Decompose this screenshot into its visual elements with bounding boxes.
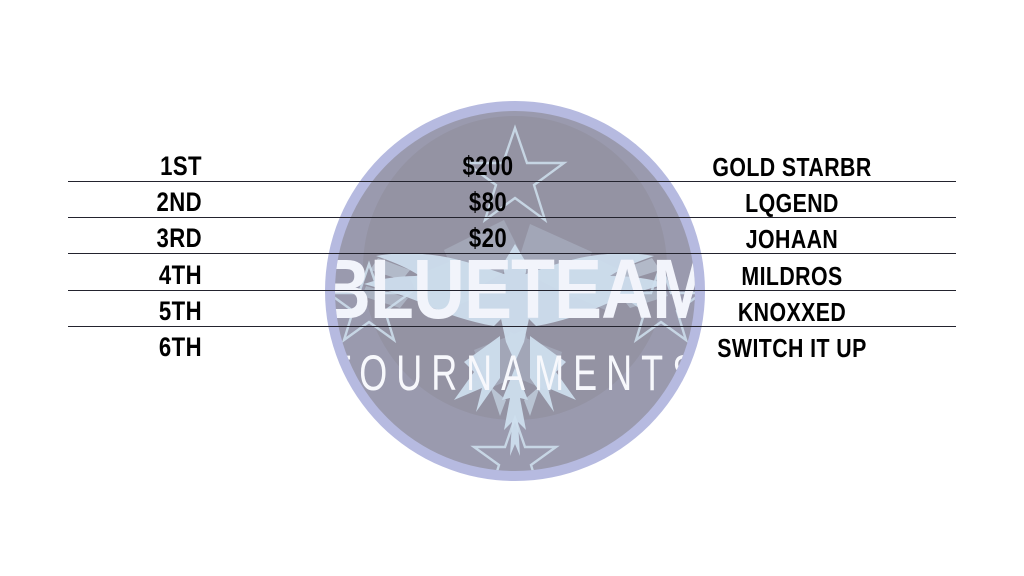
row-prize: $20 xyxy=(414,225,562,252)
table-row: 1ST $200 GOLD STARBR xyxy=(68,146,956,182)
table-row: 6TH SWITCH IT UP xyxy=(68,327,956,363)
table-row: 2ND $80 LQGEND xyxy=(68,182,956,218)
row-place: 3RD xyxy=(92,225,202,252)
row-place: 6TH xyxy=(92,334,202,361)
row-place: 4TH xyxy=(92,262,202,289)
row-prize: $200 xyxy=(414,153,562,180)
row-place: 2ND xyxy=(92,189,202,216)
row-player: SWITCH IT UP xyxy=(658,335,927,361)
row-player: GOLD STARBR xyxy=(658,154,927,180)
row-place: 5TH xyxy=(92,298,202,325)
tournament-prize-leaderboard: 1ST $200 GOLD STARBR 2ND $80 LQGEND 3RD … xyxy=(0,0,1024,576)
row-player: JOHAAN xyxy=(658,226,927,252)
table-row: 5TH KNOXXED xyxy=(68,291,956,327)
row-player: MILDROS xyxy=(658,263,927,289)
row-player: KNOXXED xyxy=(658,299,927,325)
table-row: 3RD $20 JOHAAN xyxy=(68,218,956,254)
table-row: 4TH MILDROS xyxy=(68,255,956,291)
row-prize: $80 xyxy=(414,189,562,216)
row-player: LQGEND xyxy=(658,190,927,216)
row-place: 1ST xyxy=(92,153,202,180)
